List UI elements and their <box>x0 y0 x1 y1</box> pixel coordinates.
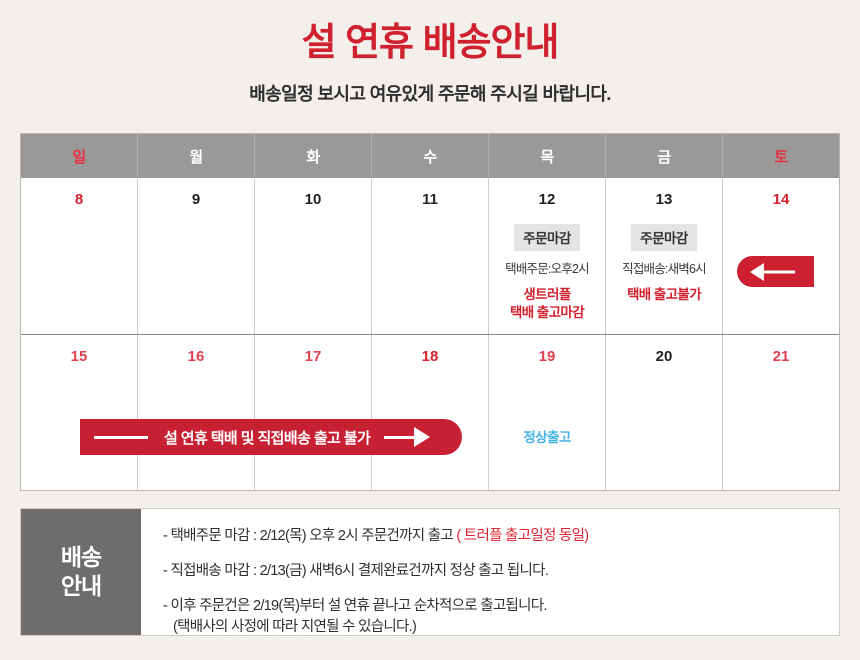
notice-line-3-sub: (택배사의 사정에 따라 지연될 수 있습니다.) <box>163 617 839 638</box>
day-number: 18 <box>372 349 488 364</box>
day-header-sun: 일 <box>21 134 138 178</box>
calendar-header-row: 일 월 화 수 목 금 토 <box>21 134 839 178</box>
day-header-thu: 목 <box>489 134 606 178</box>
day-number: 11 <box>372 192 488 207</box>
order-deadline-badge: 주문마감 <box>631 224 697 251</box>
arrow-left-icon <box>750 263 764 281</box>
calendar-cell-8: 8 <box>21 178 138 334</box>
calendar-cell-18: 18 <box>372 335 489 490</box>
day-number: 10 <box>255 192 371 207</box>
notice-line-1: - 택배주문 마감 : 2/12(목) 오후 2시 주문건까지 출고 ( 트러플… <box>163 526 839 547</box>
day-header-tue: 화 <box>255 134 372 178</box>
highlight-note-line2: 택배 출고마감 <box>510 305 584 320</box>
holiday-banner-label: 설 연휴 택배 및 직접배송 출고 불가 <box>164 427 370 448</box>
calendar-cell-11: 11 <box>372 178 489 334</box>
arrow-right-icon <box>414 427 430 447</box>
banner-tail-right <box>384 436 414 439</box>
day-number: 9 <box>138 192 254 207</box>
highlight-note: 택배 출고불가 <box>606 286 722 304</box>
calendar-cell-21: 21 <box>723 335 839 490</box>
day-number: 16 <box>138 349 254 364</box>
notice-line-1-highlight: ( 트러플 출고일정 동일) <box>456 528 588 544</box>
calendar-cell-19: 19 정상출고 <box>489 335 606 490</box>
arrow-tail <box>764 270 795 273</box>
delivery-detail-text: 택배주문:오후2시 <box>489 258 605 277</box>
notice-label-line1: 배송 <box>61 543 101 572</box>
calendar-cell-20: 20 <box>606 335 723 490</box>
day-header-wed: 수 <box>372 134 489 178</box>
day-number: 20 <box>606 349 722 364</box>
notice-label-line2: 안내 <box>61 572 101 601</box>
calendar-cell-12: 12 주문마감 택배주문:오후2시 생트러플 택배 출고마감 <box>489 178 606 334</box>
day-header-sat: 토 <box>723 134 839 178</box>
calendar-week-row-1: 8 9 10 11 12 주문마감 택배주문:오후2시 생트러플 택배 출고마감… <box>21 178 839 334</box>
day-number: 14 <box>723 192 839 207</box>
day-number: 19 <box>489 349 605 364</box>
highlight-note: 생트러플 택배 출고마감 <box>489 286 605 322</box>
day-number: 12 <box>489 192 605 207</box>
calendar-cell-16: 16 <box>138 335 255 490</box>
day-number: 13 <box>606 192 722 207</box>
day-number: 8 <box>21 192 137 207</box>
holiday-closed-banner: 설 연휴 택배 및 직접배송 출고 불가 <box>80 419 462 455</box>
calendar-cell-17: 17 <box>255 335 372 490</box>
calendar-week-row-2: 15 16 17 18 19 정상출고 20 21 <box>21 334 839 490</box>
calendar-cell-9: 9 <box>138 178 255 334</box>
notice-line-1-text: - 택배주문 마감 : 2/12(목) 오후 2시 주문건까지 출고 <box>163 528 456 544</box>
day-number: 17 <box>255 349 371 364</box>
page-title: 설 연휴 배송안내 <box>0 22 860 66</box>
notice-body: - 택배주문 마감 : 2/12(목) 오후 2시 주문건까지 출고 ( 트러플… <box>141 509 839 635</box>
order-deadline-badge: 주문마감 <box>514 224 580 251</box>
notice-line-2-text: - 직접배송 마감 : 2/13(금) 새벽6시 결제완료건까지 정상 출고 됩… <box>163 563 548 579</box>
page-subtitle: 배송일정 보시고 여유있게 주문해 주시길 바랍니다. <box>0 80 860 106</box>
banner-tail-left <box>94 436 148 439</box>
notice-line-3: - 이후 주문건은 2/19(목)부터 설 연휴 끝나고 순차적으로 출고됩니다… <box>163 596 839 638</box>
highlight-note-line1: 생트러플 <box>523 287 570 302</box>
day-header-fri: 금 <box>606 134 723 178</box>
calendar-cell-15: 15 <box>21 335 138 490</box>
calendar-cell-14: 14 <box>723 178 839 334</box>
page-header: 설 연휴 배송안내 배송일정 보시고 여유있게 주문해 주시길 바랍니다. <box>0 0 860 106</box>
notice-line-3-text: - 이후 주문건은 2/19(목)부터 설 연휴 끝나고 순차적으로 출고됩니다… <box>163 598 547 614</box>
calendar-cell-13: 13 주문마감 직접배송:새벽6시 택배 출고불가 <box>606 178 723 334</box>
holiday-start-arrow-icon <box>737 256 814 287</box>
day-header-mon: 월 <box>138 134 255 178</box>
delivery-detail-text: 직접배송:새벽6시 <box>606 258 722 277</box>
notice-label: 배송 안내 <box>21 509 141 635</box>
normal-shipping-note: 정상출고 <box>489 426 605 446</box>
delivery-notice-box: 배송 안내 - 택배주문 마감 : 2/12(목) 오후 2시 주문건까지 출고… <box>20 508 840 636</box>
day-number: 15 <box>21 349 137 364</box>
day-number: 21 <box>723 349 839 364</box>
calendar-cell-10: 10 <box>255 178 372 334</box>
notice-line-2: - 직접배송 마감 : 2/13(금) 새벽6시 결제완료건까지 정상 출고 됩… <box>163 561 839 582</box>
